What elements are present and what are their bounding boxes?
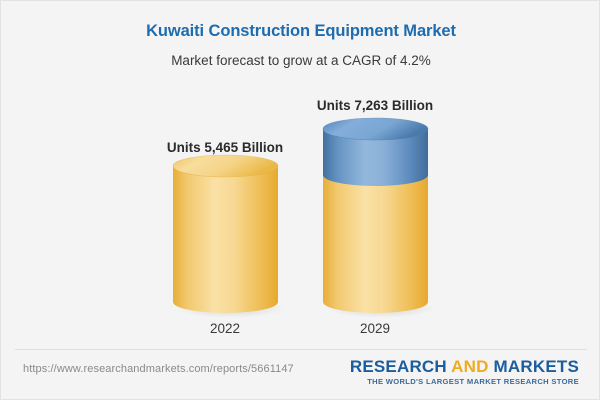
logo-wordmark: RESEARCH AND MARKETS (350, 358, 579, 375)
bar-cylinder-2029 (323, 118, 428, 319)
research-and-markets-logo[interactable]: RESEARCH AND MARKETS THE WORLD'S LARGEST… (350, 358, 579, 386)
report-url-link[interactable]: https://www.researchandmarkets.com/repor… (23, 363, 294, 375)
bar-value-label-2029: Units 7,263 Billion (265, 98, 485, 113)
category-label-2029: 2029 (265, 321, 485, 336)
footer-divider (15, 349, 587, 350)
bar-cylinder-2022 (173, 159, 278, 319)
plot-area: Units 5,465 Billion (1, 1, 600, 349)
bar-value-label-2022: Units 5,465 Billion (115, 140, 335, 155)
logo-tagline: THE WORLD'S LARGEST MARKET RESEARCH STOR… (350, 378, 579, 386)
chart-canvas: Kuwaiti Construction Equipment Market Ma… (0, 0, 600, 400)
logo-word-markets: MARKETS (489, 357, 579, 376)
logo-word-and: AND (451, 357, 488, 376)
logo-word-research: RESEARCH (350, 357, 451, 376)
